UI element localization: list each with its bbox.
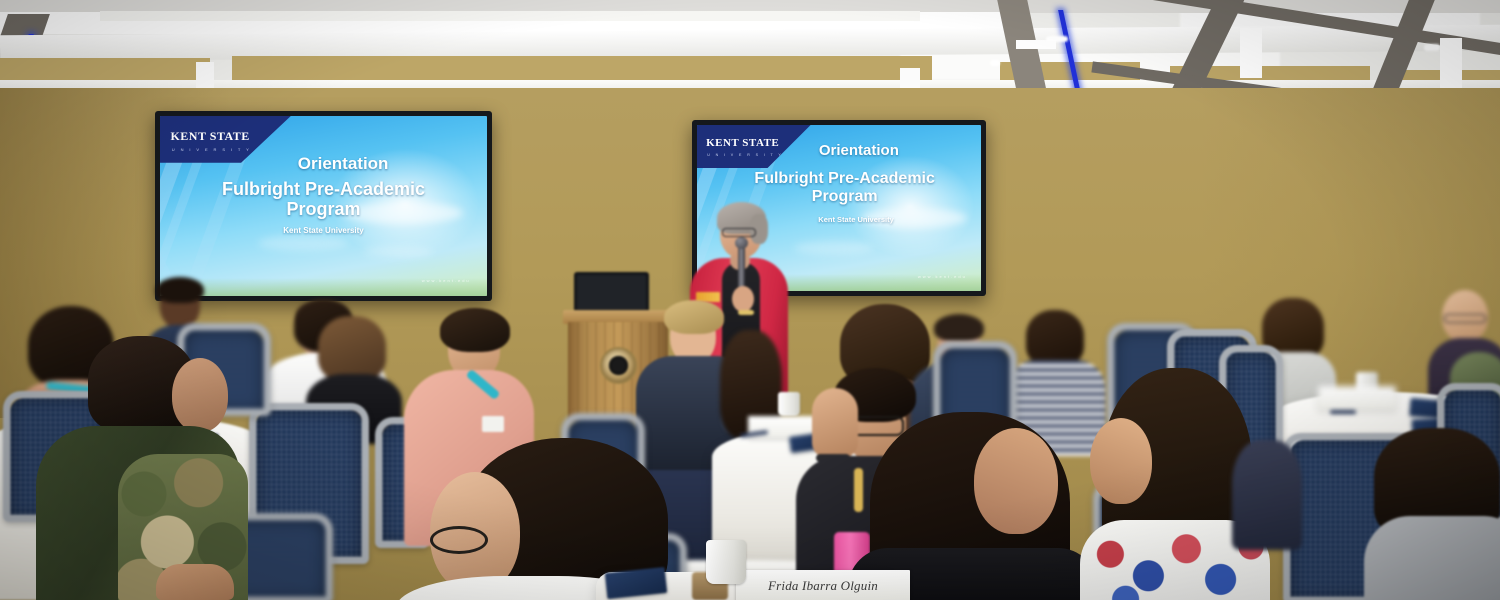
audience-member-foreground (1374, 428, 1500, 600)
slide-subtitle: Kent State University (160, 226, 487, 235)
raised-hand (812, 388, 858, 458)
badge (482, 416, 504, 432)
left-display-screen: KENT STATE U N I V E R S I T Y Orientati… (160, 116, 487, 296)
slide-heading-line1: Fulbright Pre-Academic (708, 170, 981, 188)
kent-state-logo-subtext: U N I V E R S I T Y (172, 147, 251, 152)
slide-eyebrow: Orientation (199, 154, 487, 174)
audience-member (1232, 440, 1302, 550)
name-placard-right (1318, 386, 1396, 410)
eyeglasses (1444, 314, 1486, 323)
hands (156, 564, 234, 600)
presenter-glasses (722, 228, 756, 237)
audience-member-foreground (30, 336, 240, 600)
slide-heading-line1: Fulbright Pre-Academic (160, 179, 487, 199)
eyeglasses (430, 526, 488, 554)
slide-heading-line2: Program (160, 199, 487, 219)
cloud (363, 246, 433, 258)
coffee-cup (706, 540, 746, 584)
left-display[interactable]: KENT STATE U N I V E R S I T Y Orientati… (155, 111, 492, 301)
name-placard-frida: Frida Ibarra Olguin (736, 570, 910, 600)
pen (1330, 410, 1356, 414)
microphone-head (735, 237, 748, 249)
conference-room-photo: KENT STATE U N I V E R S I T Y Orientati… (0, 0, 1500, 600)
slide-footer-url: www.kent.edu (422, 278, 471, 283)
slide-eyebrow: Orientation (737, 142, 981, 159)
slide-footer-url: www.kent.edu (918, 274, 967, 279)
kent-state-logo-text: KENT STATE (170, 130, 269, 142)
microphone (738, 242, 745, 292)
kent-state-seal (600, 347, 637, 384)
coffee-cup (778, 392, 800, 416)
